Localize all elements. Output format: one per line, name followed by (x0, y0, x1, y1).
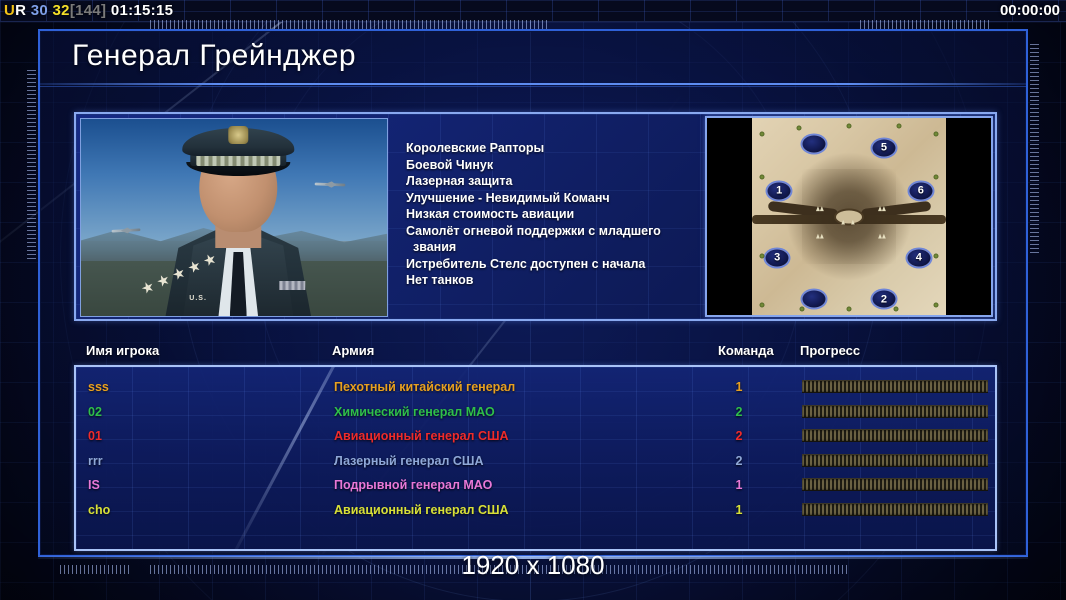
column-header-player-name: Имя игрока (86, 343, 159, 358)
map-tree-icon (847, 307, 852, 312)
map-tree-icon (897, 123, 902, 128)
map-tree-icon (934, 131, 939, 136)
general-abilities-list: Королевские РапторыБоевой ЧинукЛазерная … (406, 140, 736, 289)
general-ability-item: Улучшение - Невидимый Команч (406, 190, 736, 207)
cell-army: Авиационный генерал США (334, 424, 509, 448)
cell-team: 1 (724, 375, 754, 399)
general-ability-item: звания (406, 239, 736, 256)
elapsed-time: 01:15:15 (111, 2, 173, 19)
map-center-lake (836, 210, 862, 223)
cell-player-name: rrr (88, 449, 103, 473)
ruler-marks-right (1030, 44, 1039, 254)
map-start-position-1[interactable]: 1 (768, 182, 791, 199)
cell-progress-bar (802, 429, 988, 442)
general-ability-item: Королевские Рапторы (406, 140, 736, 157)
title-divider-shadow (40, 86, 1026, 87)
map-start-position-3[interactable]: 3 (766, 249, 789, 266)
map-tree-icon (759, 253, 764, 258)
cell-player-name: sss (88, 375, 109, 399)
ur-value-2: 32 (53, 2, 70, 19)
cell-player-name: 01 (88, 424, 102, 448)
status-bar-stats: UR 30 32[144] 01:15:15 (4, 1, 173, 21)
table-row[interactable]: 01Авиационный генерал США2 (76, 424, 995, 448)
cell-team: 1 (724, 498, 754, 522)
table-row[interactable]: 02Химический генерал МАО2 (76, 400, 995, 424)
title-divider (40, 83, 1026, 85)
ur-value-1: 30 (31, 2, 48, 19)
ur-label-r: R (15, 2, 26, 19)
map-start-position-empty[interactable] (803, 291, 826, 308)
cell-team: 2 (724, 449, 754, 473)
column-header-army: Армия (332, 343, 374, 358)
resolution-label: 1920 x 1080 (0, 550, 1066, 581)
officer-cap-emblem-icon (228, 126, 248, 144)
cell-army: Авиационный генерал США (334, 498, 509, 522)
ur-bracket-value: [144] (70, 2, 107, 19)
map-tree-icon (796, 125, 801, 130)
general-ability-item: Самолёт огневой поддержки с младшего (406, 223, 736, 240)
cell-team: 1 (724, 473, 754, 497)
officer-ribbon-bar (279, 281, 305, 290)
table-row[interactable]: ISПодрывной генерал МАО1 (76, 473, 995, 497)
map-tree-icon (934, 303, 939, 308)
general-ability-item: Боевой Чинук (406, 157, 736, 174)
cell-progress-bar (802, 503, 988, 516)
column-header-progress: Прогресс (800, 343, 860, 358)
officer-us-insignia: U.S. (189, 295, 207, 302)
cell-team: 2 (724, 424, 754, 448)
ruler-marks-left (27, 70, 36, 260)
session-clock: 00:00:00 (1000, 1, 1060, 21)
map-tree-icon (800, 307, 805, 312)
general-ability-item: Истребитель Стелс доступен с начала (406, 256, 736, 273)
general-ability-item: Низкая стоимость авиации (406, 206, 736, 223)
map-tree-icon (893, 307, 898, 312)
player-table-header: Имя игрока Армия Команда Прогресс (40, 343, 1026, 363)
officer-figure: U.S. (131, 138, 345, 316)
ur-label-u: U (4, 2, 15, 19)
ruler-marks-top-right (860, 20, 990, 29)
map-tree-icon (934, 253, 939, 258)
general-ability-item: Нет танков (406, 272, 736, 289)
general-ability-item: Лазерная защита (406, 173, 736, 190)
map-start-position-2[interactable]: 2 (872, 291, 895, 308)
map-tree-icon (847, 123, 852, 128)
general-detail-panel: U.S. Королевские РапторыБоевой ЧинукЛазе… (74, 112, 997, 321)
map-preview-box[interactable]: 516342 (705, 116, 993, 317)
cell-army: Пехотный китайский генерал (334, 375, 515, 399)
map-tree-icon (934, 175, 939, 180)
general-info-frame: Генерал Грейнджер (38, 29, 1028, 557)
cell-army: Химический генерал МАО (334, 400, 495, 424)
cell-team: 2 (724, 400, 754, 424)
cell-progress-bar (802, 454, 988, 467)
map-tree-icon (759, 131, 764, 136)
map-start-position-empty[interactable] (803, 135, 826, 152)
map-tree-icon (759, 303, 764, 308)
table-row[interactable]: sssПехотный китайский генерал1 (76, 375, 995, 399)
cell-army: Лазерный генерал США (334, 449, 483, 473)
column-header-team: Команда (718, 343, 774, 358)
ruler-marks-top (150, 20, 550, 29)
map-start-position-5[interactable]: 5 (872, 139, 895, 156)
map-preview-image: 516342 (752, 118, 946, 315)
cell-player-name: 02 (88, 400, 102, 424)
table-row[interactable]: rrrЛазерный генерал США2 (76, 449, 995, 473)
map-start-position-4[interactable]: 4 (907, 249, 930, 266)
cell-army: Подрывной генерал МАО (334, 473, 492, 497)
map-start-position-6[interactable]: 6 (909, 182, 932, 199)
cell-progress-bar (802, 478, 988, 491)
page-title: Генерал Грейнджер (72, 39, 356, 73)
general-portrait: U.S. (80, 118, 388, 317)
cell-player-name: cho (88, 498, 110, 522)
cell-progress-bar (802, 380, 988, 393)
cell-player-name: IS (88, 473, 100, 497)
table-row[interactable]: choАвиационный генерал США1 (76, 498, 995, 522)
cell-progress-bar (802, 405, 988, 418)
top-status-bar: UR 30 32[144] 01:15:15 00:00:00 (0, 0, 1066, 22)
map-tree-icon (759, 175, 764, 180)
player-table-panel: sssПехотный китайский генерал102Химическ… (74, 365, 997, 551)
